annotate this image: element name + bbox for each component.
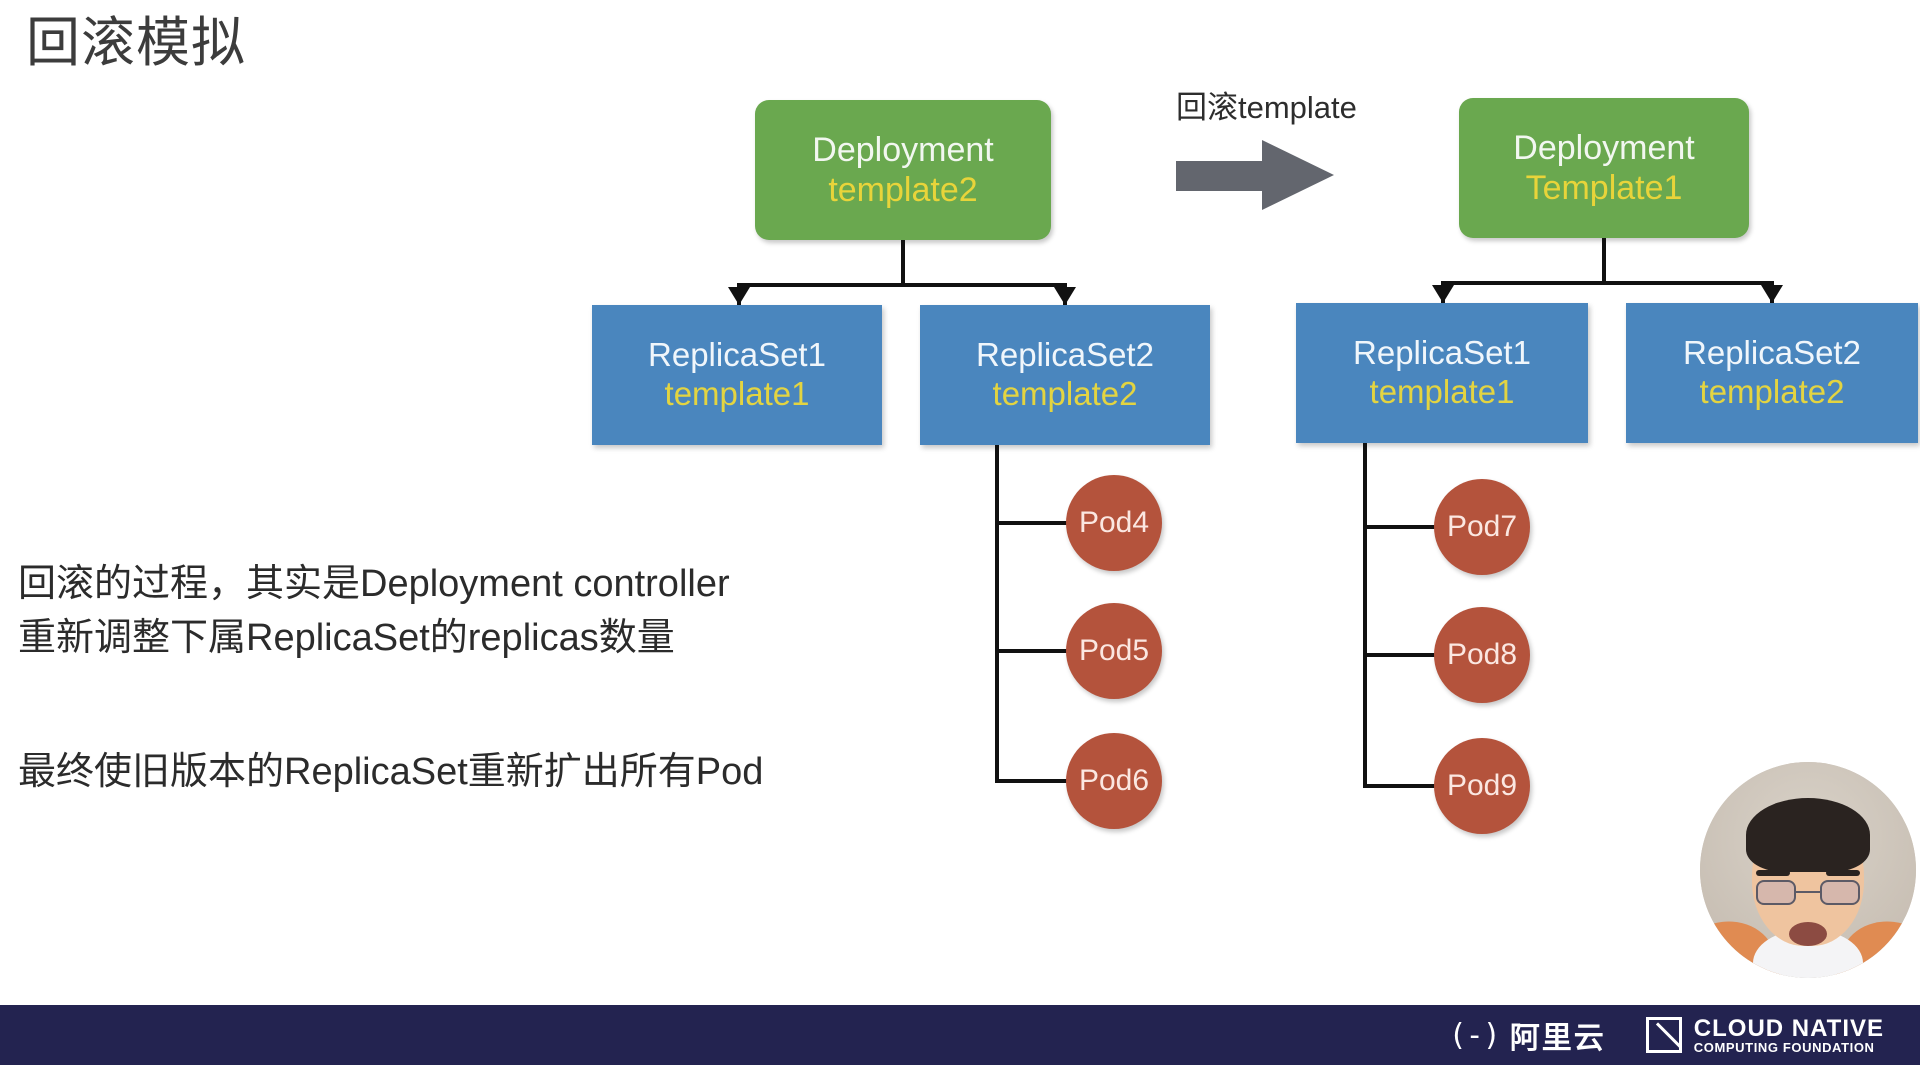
webcam-hair	[1746, 798, 1870, 872]
right-arrow-icon	[1176, 140, 1336, 210]
left-deployment-box[interactable]: Deployment template2	[755, 100, 1051, 240]
right-replicaset1-template: template1	[1370, 374, 1515, 411]
right-pod-branch-1	[1363, 525, 1437, 529]
right-pod-branch-2	[1363, 653, 1437, 657]
right-deployment-title: Deployment	[1513, 129, 1694, 167]
right-replicaset2-template: template2	[1700, 374, 1845, 411]
pod-circle-pod6[interactable]: Pod6	[1066, 733, 1162, 829]
webcam-glasses	[1756, 880, 1860, 906]
webcam-eyebrow-right	[1826, 870, 1860, 876]
pod-circle-pod8[interactable]: Pod8	[1434, 607, 1530, 703]
cncf-text: CLOUD NATIVE COMPUTING FOUNDATION	[1694, 1016, 1884, 1055]
left-pod-branch-2	[995, 649, 1069, 653]
left-connector-stem	[901, 240, 905, 285]
pod-circle-pod5[interactable]: Pod5	[1066, 603, 1162, 699]
pod-circle-pod4[interactable]: Pod4	[1066, 475, 1162, 571]
left-pod-branch-1	[995, 521, 1069, 525]
right-replicaset2-box[interactable]: ReplicaSet2 template2	[1626, 303, 1918, 443]
right-deployment-template: Template1	[1526, 169, 1683, 207]
right-replicaset1-box[interactable]: ReplicaSet1 template1	[1296, 303, 1588, 443]
cncf-logo-icon	[1646, 1017, 1682, 1053]
footer-logos: (-) 阿里云 CLOUD NATIVE COMPUTING FOUNDATIO…	[1449, 1013, 1884, 1057]
arrow-shaft	[1176, 161, 1268, 191]
right-replicaset1-title: ReplicaSet1	[1353, 335, 1531, 372]
pod-circle-pod7[interactable]: Pod7	[1434, 479, 1530, 575]
right-connector-stem	[1602, 238, 1606, 283]
slide-canvas: 回滚模拟 回滚的过程，其实是Deployment controller 重新调整…	[0, 0, 1920, 1065]
webcam-lens-right	[1820, 880, 1860, 905]
webcam-mouth	[1789, 922, 1827, 946]
cncf-line-1: CLOUD NATIVE	[1694, 1016, 1884, 1041]
presenter-video-bubble[interactable]	[1700, 762, 1916, 978]
left-pod-branch-3	[995, 779, 1069, 783]
left-replicaset1-title: ReplicaSet1	[648, 337, 826, 374]
left-arrow-head-1	[728, 287, 750, 305]
left-deployment-title: Deployment	[812, 131, 993, 169]
alibaba-cloud-mark-icon: (-)	[1449, 1018, 1500, 1053]
left-replicaset1-template: template1	[665, 376, 810, 413]
left-deployment-template: template2	[828, 171, 977, 209]
cncf-line-2: COMPUTING FOUNDATION	[1694, 1041, 1884, 1055]
left-replicaset2-template: template2	[993, 376, 1138, 413]
left-replicaset1-box[interactable]: ReplicaSet1 template1	[592, 305, 882, 445]
transition-label: 回滚template	[1176, 82, 1357, 127]
right-pod-branch-3	[1363, 784, 1437, 788]
left-replicaset2-title: ReplicaSet2	[976, 337, 1154, 374]
right-replicaset2-title: ReplicaSet2	[1683, 335, 1861, 372]
left-connector-bar	[737, 283, 1067, 287]
pod-circle-pod9[interactable]: Pod9	[1434, 738, 1530, 834]
left-arrow-head-2	[1054, 287, 1076, 305]
right-connector-bar	[1441, 281, 1774, 285]
webcam-lens-left	[1756, 880, 1796, 905]
right-deployment-box[interactable]: Deployment Template1	[1459, 98, 1749, 238]
alibaba-cloud-logo: (-) 阿里云	[1449, 1013, 1606, 1057]
webcam-glasses-bridge	[1796, 891, 1820, 893]
right-arrow-head-1	[1432, 285, 1454, 303]
right-arrow-head-2	[1761, 285, 1783, 303]
cncf-logo: CLOUD NATIVE COMPUTING FOUNDATION	[1646, 1016, 1884, 1055]
left-pod-trunk	[995, 445, 999, 783]
alibaba-cloud-text: 阿里云	[1510, 1013, 1606, 1057]
left-replicaset2-box[interactable]: ReplicaSet2 template2	[920, 305, 1210, 445]
webcam-eyebrow-left	[1756, 870, 1790, 876]
rollback-diagram: Deployment template2 ReplicaSet1 templat…	[0, 0, 1920, 1065]
arrow-head	[1262, 140, 1334, 210]
right-pod-trunk	[1363, 443, 1367, 788]
